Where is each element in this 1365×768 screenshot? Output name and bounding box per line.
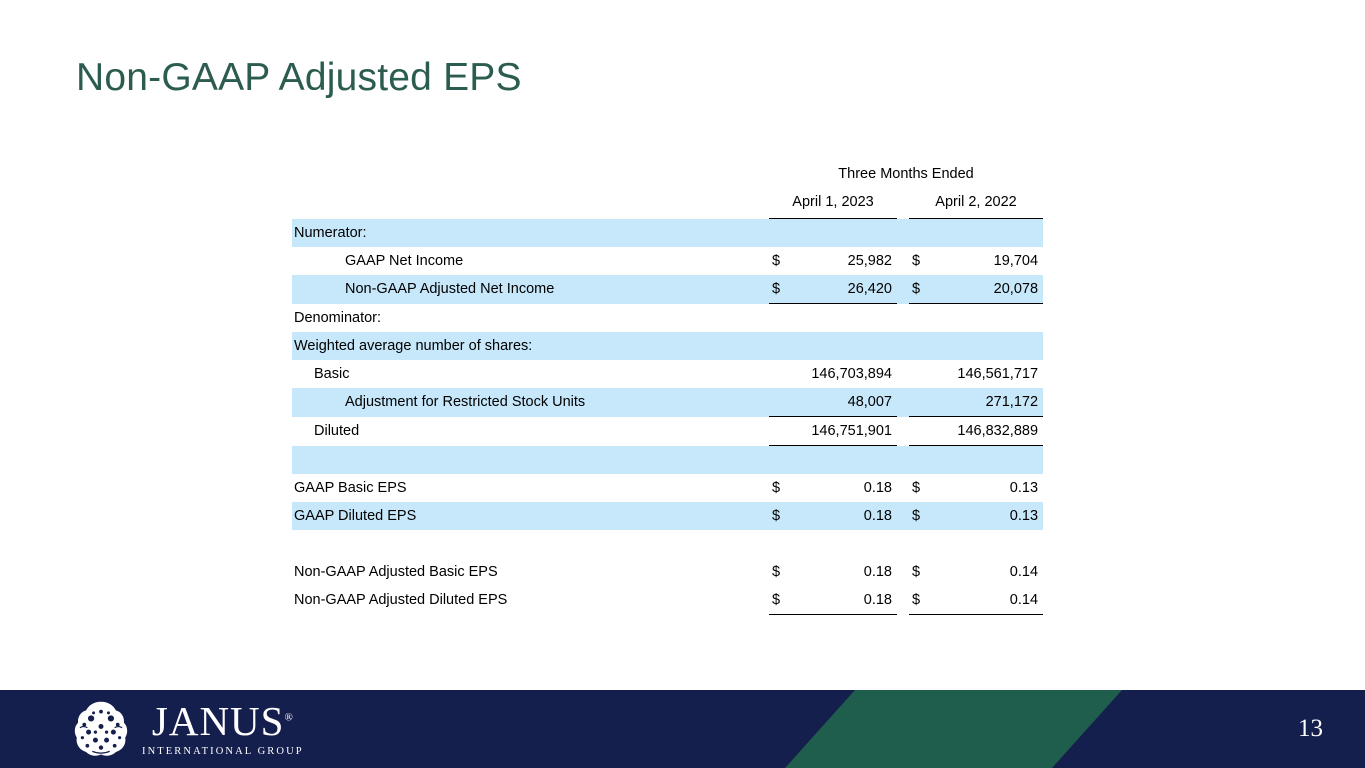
row-label: Non-GAAP Adjusted Net Income bbox=[292, 275, 769, 304]
row-value-2 bbox=[931, 332, 1043, 360]
row-currency-2 bbox=[909, 304, 931, 333]
row-column-gap bbox=[897, 275, 909, 304]
row-value-1: 0.18 bbox=[791, 502, 897, 530]
row-currency-2 bbox=[909, 219, 931, 248]
row-value-2: 19,704 bbox=[931, 247, 1043, 275]
row-currency-2 bbox=[909, 417, 931, 446]
row-value-1: 48,007 bbox=[791, 388, 897, 417]
row-value-1 bbox=[791, 446, 897, 475]
row-currency-1 bbox=[769, 360, 791, 388]
row-currency-1 bbox=[769, 332, 791, 360]
row-currency-1 bbox=[769, 219, 791, 248]
table-row: Denominator: bbox=[292, 304, 1043, 333]
row-currency-1: $ bbox=[769, 247, 791, 275]
table-row bbox=[292, 446, 1043, 475]
row-label: GAAP Net Income bbox=[292, 247, 769, 275]
header-col1-date: April 1, 2023 bbox=[769, 188, 897, 219]
row-value-2: 0.13 bbox=[931, 474, 1043, 502]
table-row: Weighted average number of shares: bbox=[292, 332, 1043, 360]
row-value-2: 0.14 bbox=[931, 586, 1043, 615]
header-spacer bbox=[292, 160, 769, 188]
financial-table-container: Three Months Ended April 1, 2023 April 2… bbox=[292, 160, 1043, 615]
row-currency-1: $ bbox=[769, 502, 791, 530]
table-header-group-row: Three Months Ended bbox=[292, 160, 1043, 188]
row-column-gap bbox=[897, 446, 909, 475]
row-column-gap bbox=[897, 558, 909, 586]
page-title: Non-GAAP Adjusted EPS bbox=[76, 56, 522, 100]
row-value-1: 0.18 bbox=[791, 558, 897, 586]
row-currency-2: $ bbox=[909, 558, 931, 586]
janus-crest-icon bbox=[70, 698, 132, 760]
row-value-1 bbox=[791, 332, 897, 360]
row-label: Non-GAAP Adjusted Diluted EPS bbox=[292, 586, 769, 615]
row-currency-2: $ bbox=[909, 502, 931, 530]
header-group-label: Three Months Ended bbox=[769, 160, 1043, 188]
row-currency-1 bbox=[769, 417, 791, 446]
row-currency-2: $ bbox=[909, 247, 931, 275]
row-column-gap bbox=[897, 247, 909, 275]
row-value-2: 0.14 bbox=[931, 558, 1043, 586]
row-value-1: 146,751,901 bbox=[791, 417, 897, 446]
row-label: Weighted average number of shares: bbox=[292, 332, 769, 360]
row-currency-2: $ bbox=[909, 586, 931, 615]
table-row: Numerator: bbox=[292, 219, 1043, 248]
row-column-gap bbox=[897, 388, 909, 417]
header-spacer-2 bbox=[292, 188, 769, 219]
row-value-1 bbox=[791, 304, 897, 333]
table-row: GAAP Basic EPS$0.18$0.13 bbox=[292, 474, 1043, 502]
row-currency-1: $ bbox=[769, 474, 791, 502]
table-row bbox=[292, 530, 1043, 558]
row-value-1: 26,420 bbox=[791, 275, 897, 304]
row-column-gap bbox=[897, 332, 909, 360]
non-gaap-eps-table: Three Months Ended April 1, 2023 April 2… bbox=[292, 160, 1043, 615]
row-value-2 bbox=[931, 530, 1043, 558]
table-row: Adjustment for Restricted Stock Units48,… bbox=[292, 388, 1043, 417]
row-label: GAAP Diluted EPS bbox=[292, 502, 769, 530]
janus-logo-subtitle: INTERNATIONAL GROUP bbox=[142, 747, 304, 758]
row-value-2 bbox=[931, 304, 1043, 333]
row-value-2: 271,172 bbox=[931, 388, 1043, 417]
row-column-gap bbox=[897, 417, 909, 446]
row-value-1 bbox=[791, 530, 897, 558]
janus-wordmark: JANUS® bbox=[152, 701, 294, 742]
row-currency-1: $ bbox=[769, 275, 791, 304]
row-currency-2 bbox=[909, 446, 931, 475]
table-row: GAAP Net Income$25,982$19,704 bbox=[292, 247, 1043, 275]
row-value-2 bbox=[931, 446, 1043, 475]
table-body: Three Months Ended April 1, 2023 April 2… bbox=[292, 160, 1043, 615]
row-currency-1 bbox=[769, 530, 791, 558]
row-currency-2 bbox=[909, 332, 931, 360]
row-label: Numerator: bbox=[292, 219, 769, 248]
row-value-1: 0.18 bbox=[791, 474, 897, 502]
table-row: Non-GAAP Adjusted Basic EPS$0.18$0.14 bbox=[292, 558, 1043, 586]
row-currency-1 bbox=[769, 304, 791, 333]
row-label bbox=[292, 446, 769, 475]
row-label: Non-GAAP Adjusted Basic EPS bbox=[292, 558, 769, 586]
row-value-2: 20,078 bbox=[931, 275, 1043, 304]
row-currency-2 bbox=[909, 530, 931, 558]
row-currency-1: $ bbox=[769, 586, 791, 615]
table-row: Diluted146,751,901146,832,889 bbox=[292, 417, 1043, 446]
header-col-gap bbox=[897, 188, 909, 219]
table-row: GAAP Diluted EPS$0.18$0.13 bbox=[292, 502, 1043, 530]
row-column-gap bbox=[897, 530, 909, 558]
row-value-2: 146,561,717 bbox=[931, 360, 1043, 388]
page-number: 13 bbox=[1298, 715, 1323, 743]
header-col2-date: April 2, 2022 bbox=[909, 188, 1043, 219]
row-value-1 bbox=[791, 219, 897, 248]
row-column-gap bbox=[897, 304, 909, 333]
row-value-1: 25,982 bbox=[791, 247, 897, 275]
row-currency-2: $ bbox=[909, 474, 931, 502]
row-currency-1: $ bbox=[769, 558, 791, 586]
row-currency-1 bbox=[769, 446, 791, 475]
table-row: Basic146,703,894146,561,717 bbox=[292, 360, 1043, 388]
row-label: Basic bbox=[292, 360, 769, 388]
table-header-date-row: April 1, 2023 April 2, 2022 bbox=[292, 188, 1043, 219]
registered-mark: ® bbox=[284, 711, 293, 723]
row-currency-2: $ bbox=[909, 275, 931, 304]
row-currency-2 bbox=[909, 388, 931, 417]
row-currency-2 bbox=[909, 360, 931, 388]
row-currency-1 bbox=[769, 388, 791, 417]
janus-wordmark-block: JANUS® INTERNATIONAL GROUP bbox=[142, 701, 304, 758]
row-value-1: 146,703,894 bbox=[791, 360, 897, 388]
row-label: Diluted bbox=[292, 417, 769, 446]
row-label: Adjustment for Restricted Stock Units bbox=[292, 388, 769, 417]
row-value-2: 0.13 bbox=[931, 502, 1043, 530]
row-label: Denominator: bbox=[292, 304, 769, 333]
row-label bbox=[292, 530, 769, 558]
row-column-gap bbox=[897, 219, 909, 248]
row-value-2: 146,832,889 bbox=[931, 417, 1043, 446]
row-column-gap bbox=[897, 586, 909, 615]
row-value-1: 0.18 bbox=[791, 586, 897, 615]
row-column-gap bbox=[897, 502, 909, 530]
janus-logo: JANUS® INTERNATIONAL GROUP bbox=[70, 698, 304, 760]
row-label: GAAP Basic EPS bbox=[292, 474, 769, 502]
table-row: Non-GAAP Adjusted Net Income$26,420$20,0… bbox=[292, 275, 1043, 304]
row-column-gap bbox=[897, 474, 909, 502]
slide-footer: JANUS® INTERNATIONAL GROUP 13 bbox=[0, 690, 1365, 768]
row-value-2 bbox=[931, 219, 1043, 248]
janus-wordmark-text: JANUS bbox=[152, 698, 285, 744]
row-column-gap bbox=[897, 360, 909, 388]
table-row: Non-GAAP Adjusted Diluted EPS$0.18$0.14 bbox=[292, 586, 1043, 615]
